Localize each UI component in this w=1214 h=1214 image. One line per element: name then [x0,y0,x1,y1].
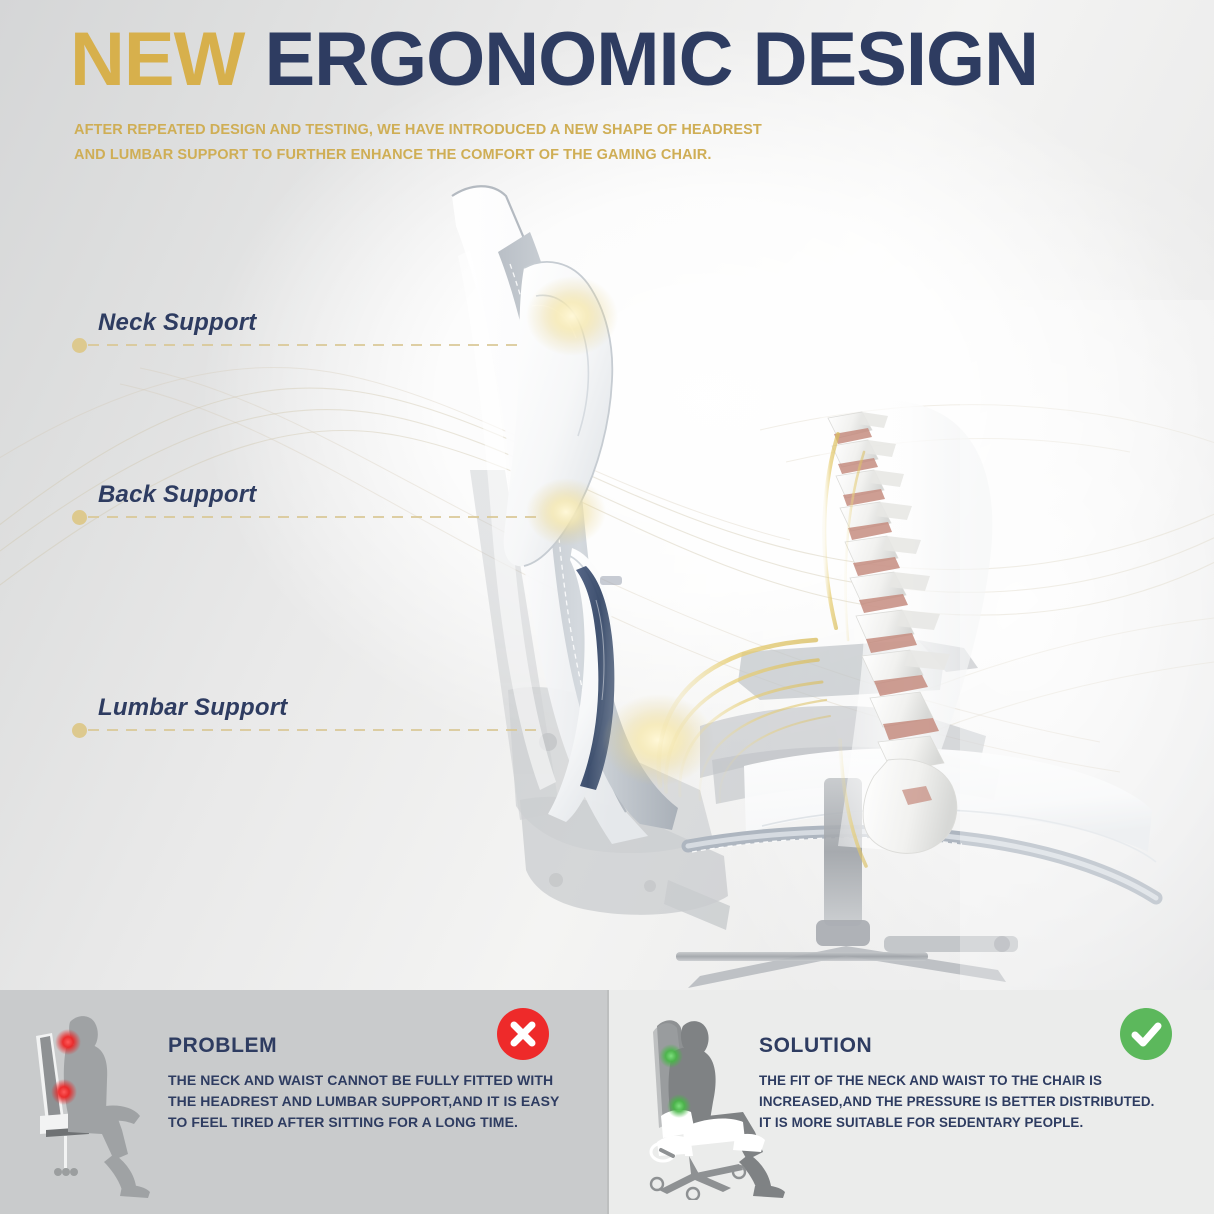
comparison-strip: PROBLEM THE NECK AND WAIST CANNOT BE FUL… [0,990,1214,1214]
callout-label: Neck Support [98,309,256,337]
callout-dot-icon [72,723,87,738]
nerve-flow-lines [659,434,866,866]
solution-body-line-1: THE FIT OF THE NECK AND WAIST TO THE CHA… [759,1070,1209,1091]
callout-label: Back Support [98,481,256,509]
callout-leader-line [88,344,518,346]
callout-leader-line [88,516,538,518]
chair-ghost-frame [470,470,730,930]
solution-body-line-3: IT IS MORE SUITABLE FOR SEDENTARY PEOPLE… [759,1112,1209,1133]
problem-body-line-1: THE NECK AND WAIST CANNOT BE FULLY FITTE… [168,1070,588,1091]
armrest-loop [688,832,1156,898]
lumbar-pad [548,548,622,822]
solution-body: THE FIT OF THE NECK AND WAIST TO THE CHA… [759,1070,1209,1133]
title-rest: ERGONOMIC DESIGN [264,17,1038,102]
subtitle-line-2: AND LUMBAR SUPPORT TO FURTHER ENHANCE TH… [74,143,934,168]
x-circle-icon [497,1008,549,1060]
infographic-canvas: NEW ERGONOMIC DESIGN AFTER REPEATED DESI… [0,0,1214,1214]
support-glow-points [526,276,714,786]
problem-body-line-2: THE HEADREST AND LUMBAR SUPPORT,AND IT I… [168,1091,588,1112]
chair-seat-assembly [700,640,1000,804]
spine-illustration [806,400,992,853]
problem-body-line-3: TO FEEL TIRED AFTER SITTING FOR A LONG T… [168,1112,588,1133]
callout-dot-icon [72,338,87,353]
chair-base [676,778,1018,988]
headrest-pillow [504,262,613,566]
problem-body: THE NECK AND WAIST CANNOT BE FULLY FITTE… [168,1070,588,1133]
problem-posture-illustration [22,1004,172,1200]
problem-panel: PROBLEM THE NECK AND WAIST CANNOT BE FUL… [0,990,607,1214]
hero-section: NEW ERGONOMIC DESIGN AFTER REPEATED DESI… [0,0,1214,990]
subtitle-line-1: AFTER REPEATED DESIGN AND TESTING, WE HA… [74,118,934,143]
page-subtitle: AFTER REPEATED DESIGN AND TESTING, WE HA… [74,118,934,168]
callout-dot-icon [72,510,87,525]
seat-cushion [744,748,1156,862]
chair-back-trim [498,232,678,830]
solution-body-line-2: INCREASED,AND THE PRESSURE IS BETTER DIS… [759,1091,1209,1112]
title-word-new: NEW [70,17,244,102]
vertebrae [828,412,957,853]
page-title: NEW ERGONOMIC DESIGN [70,22,1038,98]
solution-panel: SOLUTION THE FIT OF THE NECK AND WAIST T… [607,990,1214,1214]
callout-leader-line [88,729,543,731]
check-circle-icon [1120,1008,1172,1060]
callout-label: Lumbar Support [98,694,287,722]
